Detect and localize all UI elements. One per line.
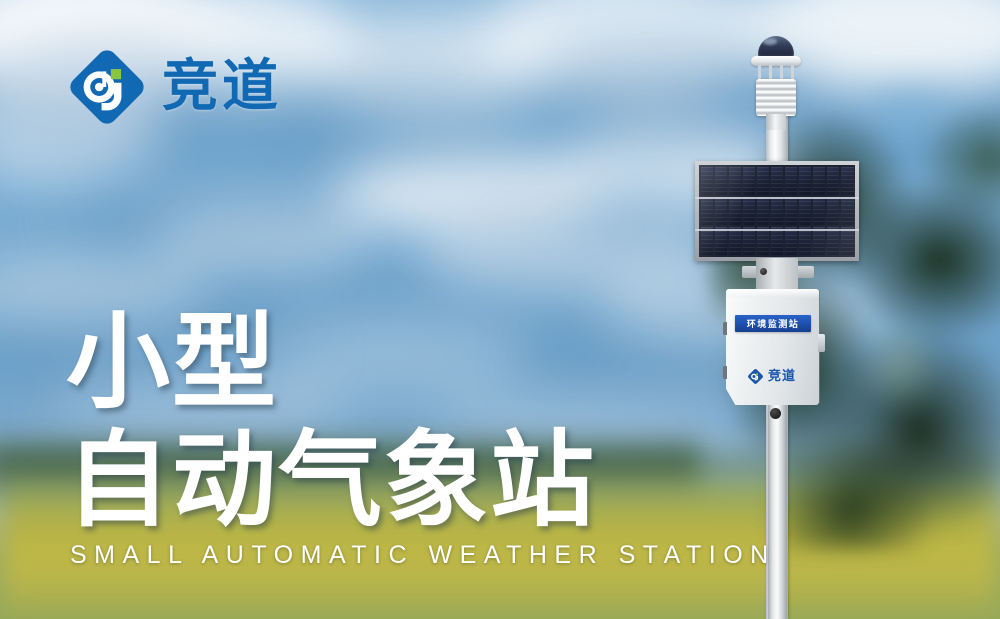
solar-cell [771,227,784,256]
solar-cell [841,167,854,196]
mount-bolt [760,268,767,275]
enclosure-banner: 环境监测站 [735,315,811,332]
solar-cell [841,197,854,226]
solar-cell [813,197,826,226]
jingdao-diamond-logo-icon [68,48,146,126]
enclosure-latch [818,334,825,352]
sensor-posts [758,65,794,80]
solar-cell [757,227,770,256]
solar-cell [785,197,798,226]
mast-lower-section [768,405,787,619]
hero-banner: 环境监测站 竞道 [0,0,1000,619]
solar-cell [771,167,784,196]
solar-cell [715,227,728,256]
sensor-neck [766,114,786,130]
solar-cell [827,167,840,196]
solar-panel-mount [756,258,798,292]
solar-cell [743,167,756,196]
solar-cell [729,167,742,196]
solar-cell [757,167,770,196]
solar-cell [799,167,812,196]
solar-cell [715,167,728,196]
solar-cell [771,197,784,226]
sensor-dome-highlight [763,38,777,45]
solar-busbar [695,229,859,231]
solar-cell [785,227,798,256]
brand-logo[interactable]: 竞道 [68,48,282,126]
enclosure-brand-logo: 竞道 [747,366,809,386]
brand-name: 竞道 [162,59,282,115]
solar-cell [799,227,812,256]
jingdao-diamond-logo-icon [747,368,764,385]
enclosure-hinge [723,322,727,335]
solar-cell [701,227,714,256]
solar-cell [813,167,826,196]
hero-subtitle: SMALL AUTOMATIC WEATHER STATION [70,541,776,570]
solar-cell [827,227,840,256]
radiation-shield [756,79,796,116]
hero-headline: 小型 自动气象站 [66,306,596,536]
enclosure-hinge [723,366,727,379]
enclosure-top-edge [726,289,819,298]
solar-cell [729,227,742,256]
headline-line-1: 小型 [66,306,596,418]
solar-cell [813,227,826,256]
solar-cell [729,197,742,226]
ultrasonic-weather-sensor-icon [744,36,808,128]
solar-panel-cells [699,165,855,257]
solar-busbar [695,197,859,199]
headline-line-2: 自动气象站 [66,424,596,536]
solar-cell [701,197,714,226]
solar-cell [827,197,840,226]
equipment-enclosure [726,289,819,405]
solar-cell [715,197,728,226]
mast-bolt [770,408,781,419]
enclosure-brand-name: 竞道 [768,370,796,383]
solar-panel [695,161,859,261]
solar-cell [743,197,756,226]
solar-cell [799,197,812,226]
solar-cell [743,227,756,256]
tree-highlight [840,300,960,430]
enclosure-banner-text: 环境监测站 [747,317,800,330]
solar-cell [757,197,770,226]
solar-cell [701,167,714,196]
solar-cell [841,227,854,256]
solar-cell [785,167,798,196]
solar-panel-frame [695,161,859,261]
